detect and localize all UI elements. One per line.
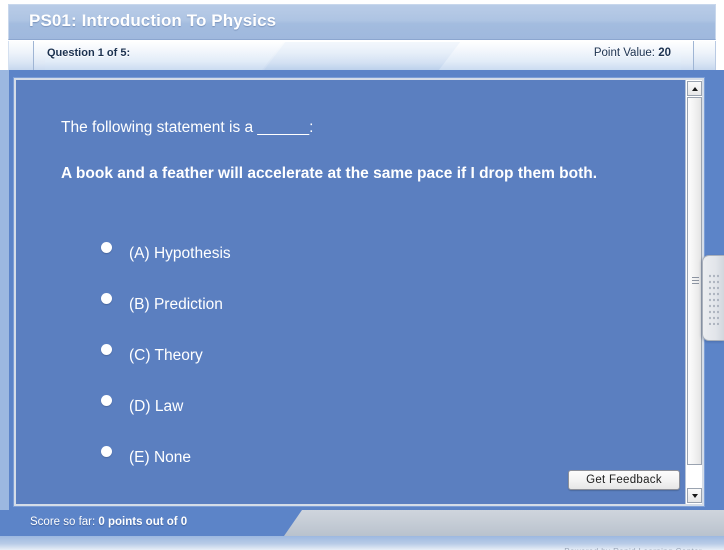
scroll-up-button[interactable]: [687, 81, 702, 96]
scroll-up-arrow-icon: [692, 87, 698, 91]
qbar-divider-left: [33, 41, 34, 70]
answer-option-label: (B) Prediction: [129, 296, 223, 314]
radio-bullet-icon: [101, 293, 112, 304]
scrollbar-grip-icon: [692, 277, 699, 285]
answer-option-label: (C) Theory: [129, 347, 203, 365]
qbar-highlight-line: [34, 41, 693, 42]
title-bar: PS01: Introduction To Physics: [8, 4, 716, 40]
answer-option-label: (A) Hypothesis: [129, 245, 231, 263]
answer-option-label: (D) Law: [129, 398, 183, 416]
splitter-grip-icon: [708, 273, 720, 325]
point-value-number: 20: [658, 47, 671, 59]
scroll-down-button[interactable]: [687, 488, 702, 503]
point-value-label: Point Value:: [594, 47, 655, 59]
scroll-down-arrow-icon: [692, 494, 698, 498]
course-title: PS01: Introduction To Physics: [29, 11, 276, 31]
score-bar-grey-section: [284, 510, 724, 536]
question-panel-body: The following statement is a ______: A b…: [16, 80, 702, 504]
question-scrollbar[interactable]: [685, 80, 702, 504]
question-body: A book and a feather will accelerate at …: [61, 163, 631, 185]
scrollbar-thumb[interactable]: [687, 97, 702, 465]
point-value: Point Value: 20: [594, 47, 671, 59]
scrollbar-track[interactable]: [687, 97, 702, 487]
qbar-chamfer-middle: [264, 41, 464, 70]
radio-bullet-icon: [101, 242, 112, 253]
qbar-end-cap-right: [681, 41, 693, 70]
question-panel: The following statement is a ______: A b…: [14, 78, 704, 506]
question-stem: The following statement is a ______:: [61, 118, 641, 139]
qbar-divider-right: [693, 41, 694, 70]
answer-options-list: (A) Hypothesis (B) Prediction (C) Theory…: [91, 228, 611, 483]
quiz-application: PS01: Introduction To Physics Question 1…: [0, 0, 724, 550]
answer-option-b[interactable]: (B) Prediction: [91, 279, 611, 330]
answer-option-a[interactable]: (A) Hypothesis: [91, 228, 611, 279]
score-status: Score so far: 0 points out of 0: [30, 516, 187, 528]
radio-bullet-icon: [101, 344, 112, 355]
get-feedback-button[interactable]: Get Feedback: [568, 470, 680, 490]
radio-bullet-icon: [101, 446, 112, 457]
answer-option-e[interactable]: (E) None: [91, 432, 611, 483]
score-bar: Score so far: 0 points out of 0: [0, 510, 724, 536]
radio-bullet-icon: [101, 395, 112, 406]
answer-option-c[interactable]: (C) Theory: [91, 330, 611, 381]
footer-bar: Powered by Rapid Learning Center: [0, 536, 724, 550]
panel-splitter-handle[interactable]: [702, 255, 724, 341]
score-label: Score so far:: [30, 516, 95, 528]
question-info-bar: Question 1 of 5: Point Value: 20: [8, 41, 716, 70]
qbar-end-cap-left: [33, 41, 45, 70]
answer-option-label: (E) None: [129, 449, 191, 467]
answer-option-d[interactable]: (D) Law: [91, 381, 611, 432]
score-value: 0 points out of 0: [98, 516, 187, 528]
question-counter: Question 1 of 5:: [47, 47, 130, 59]
